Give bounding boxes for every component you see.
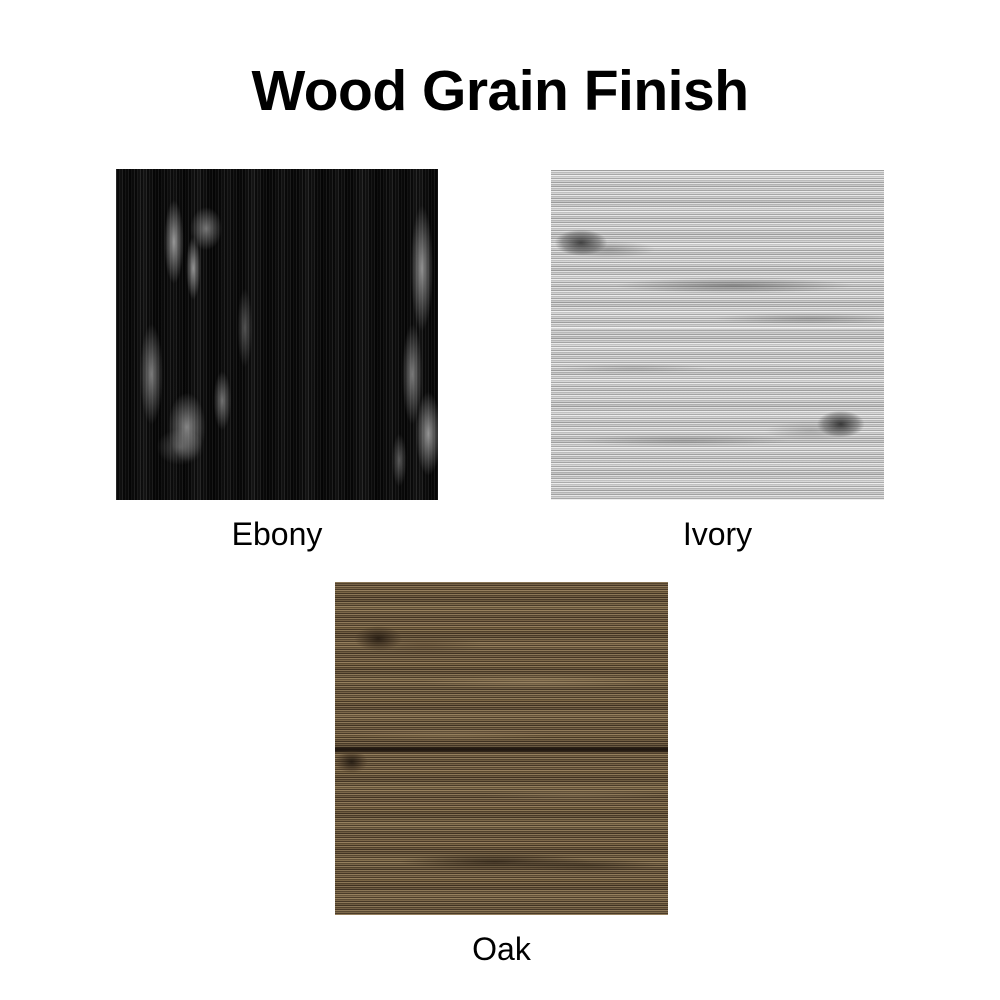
page-title: Wood Grain Finish — [0, 60, 1000, 122]
swatch-ivory-label: Ivory — [551, 516, 884, 552]
swatch-ebony-image[interactable] — [116, 169, 438, 500]
swatch-oak-label: Oak — [335, 931, 668, 967]
swatch-ivory[interactable]: Ivory — [551, 170, 884, 500]
swatch-oak-image[interactable] — [335, 582, 668, 915]
swatch-oak[interactable]: Oak — [335, 582, 668, 915]
swatch-ebony-label: Ebony — [116, 516, 438, 552]
wood-finish-swatch-page: { "page": { "title": "Wood Grain Finish"… — [0, 0, 1000, 1000]
swatch-ebony[interactable]: Ebony — [116, 169, 438, 500]
swatch-ivory-image[interactable] — [551, 170, 884, 500]
